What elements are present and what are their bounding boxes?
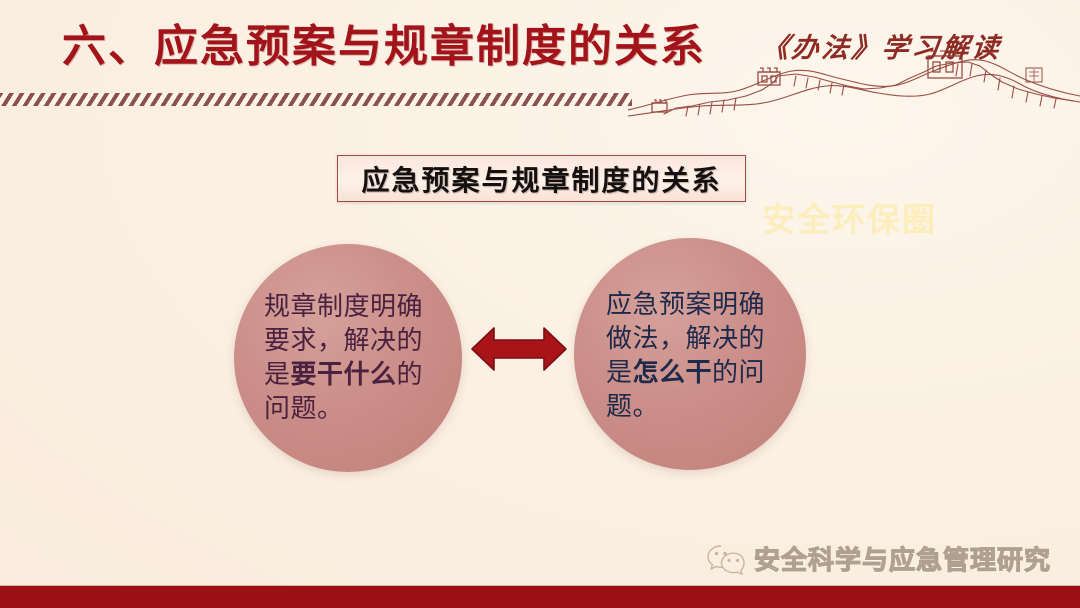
brand-footer: 安全科学与应急管理研究 [707, 540, 1051, 577]
great-wall-line-art [628, 48, 1080, 120]
right-text-emphasis: 怎么干 [633, 357, 713, 387]
double-headed-arrow-icon [470, 318, 568, 380]
bottom-accent-bar [0, 585, 1080, 608]
slide-canvas: 六、应急预案与规章制度的关系 《办法》学习解读 [0, 0, 1080, 608]
wechat-icon [707, 543, 745, 575]
left-concept-circle: 规章制度明确要求，解决的是要干什么的问题。 [234, 244, 462, 472]
right-circle-text: 应急预案明确做法，解决的是怎么干的问题。 [606, 288, 774, 423]
slide-header: 六、应急预案与规章制度的关系 《办法》学习解读 [0, 0, 1080, 118]
background-watermark: 安全环保圈 [762, 193, 937, 241]
hatched-divider [0, 93, 632, 106]
right-concept-circle: 应急预案明确做法，解决的是怎么干的问题。 [574, 238, 806, 470]
left-circle-text: 规章制度明确要求，解决的是要干什么的问题。 [264, 290, 432, 425]
headline-text: 应急预案与规章制度的关系 [361, 159, 721, 199]
brand-account-name: 安全科学与应急管理研究 [754, 540, 1051, 577]
left-text-emphasis: 要干什么 [291, 359, 397, 389]
headline-box: 应急预案与规章制度的关系 [337, 155, 746, 202]
page-title: 六、应急预案与规章制度的关系 [62, 22, 706, 73]
